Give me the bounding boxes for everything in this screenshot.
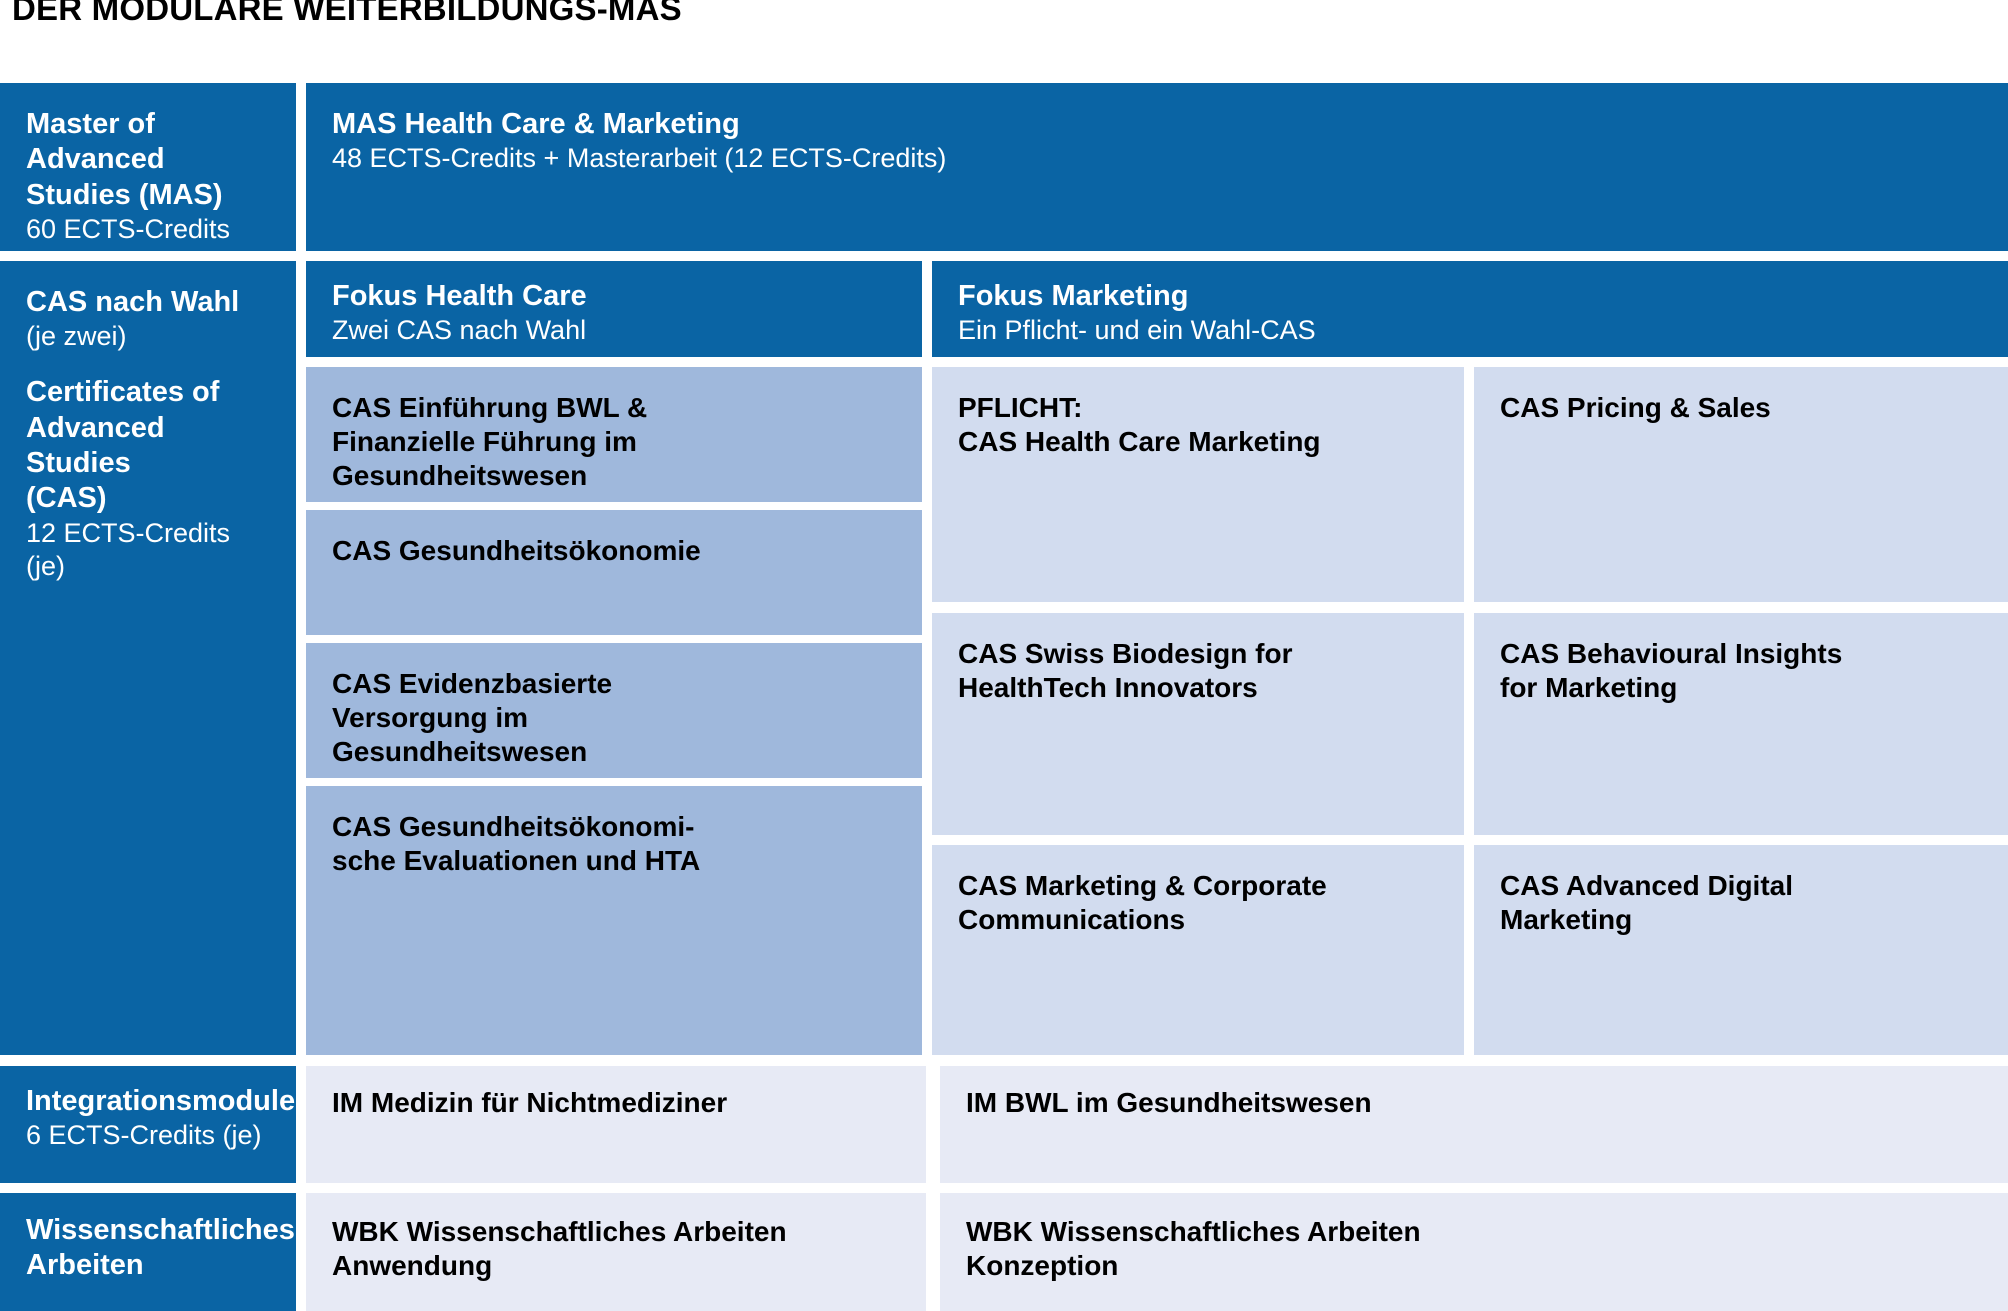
integration-card-1[interactable]: IM Medizin für Nichtmediziner [306, 1066, 926, 1183]
wissenschaft-card-title: WBK Wissenschaftliches Arbeiten Konzepti… [966, 1215, 1982, 1283]
wissenschaft-card-title: WBK Wissenschaftliches Arbeiten Anwendun… [332, 1215, 900, 1283]
integration-card-title: IM Medizin für Nichtmediziner [332, 1086, 900, 1120]
fokus-marketing-subtitle: Ein Pflicht- und ein Wahl-CAS [958, 314, 1982, 347]
cas-card-title: CAS Marketing & Corporate Communications [958, 869, 1438, 937]
cas-card-health-1[interactable]: CAS Einführung BWL & Finanzielle Führung… [306, 367, 922, 502]
cas-card-title: CAS Einführung BWL & Finanzielle Führung… [332, 391, 896, 493]
fokus-health-care-header: Fokus Health Care Zwei CAS nach Wahl [306, 261, 922, 357]
wissenschaft-label-cell: Wissenschaftliches Arbeiten [0, 1193, 296, 1311]
page-title: DER MODULARE WEITERBILDUNGS-MAS [12, 0, 682, 28]
cas-card-marketing-right-3[interactable]: CAS Advanced Digital Marketing [1474, 845, 2008, 1055]
cas-card-marketing-right-1[interactable]: CAS Pricing & Sales [1474, 367, 2008, 602]
cas-card-marketing-left-3[interactable]: CAS Marketing & Corporate Communications [932, 845, 1464, 1055]
wissenschaft-label-title: Wissenschaftliches Arbeiten [26, 1213, 270, 1284]
mas-content-title: MAS Health Care & Marketing [332, 107, 1982, 142]
integration-label-credits: 6 ECTS-Credits (je) [26, 1119, 270, 1152]
cas-card-title: CAS Gesundheitsökonomi- sche Evaluatione… [332, 810, 896, 878]
cas-label-sub2: 12 ECTS-Credits (je) [26, 517, 270, 583]
cas-card-title: CAS Behavioural Insights for Marketing [1500, 637, 1982, 705]
wissenschaft-card-2[interactable]: WBK Wissenschaftliches Arbeiten Konzepti… [940, 1193, 2008, 1311]
integration-card-2[interactable]: IM BWL im Gesundheitswesen [940, 1066, 2008, 1183]
mas-label-title: Master of Advanced Studies (MAS) [26, 107, 270, 213]
cas-label-sub: (je zwei) [26, 320, 270, 353]
cas-card-health-2[interactable]: CAS Gesundheitsökonomie [306, 510, 922, 635]
integration-card-title: IM BWL im Gesundheitswesen [966, 1086, 1982, 1120]
cas-card-title: CAS Swiss Biodesign for HealthTech Innov… [958, 637, 1438, 705]
cas-card-health-4[interactable]: CAS Gesundheitsökonomi- sche Evaluatione… [306, 786, 922, 1055]
integration-label-cell: Integrationsmodule 6 ECTS-Credits (je) [0, 1066, 296, 1183]
cas-card-title: CAS Advanced Digital Marketing [1500, 869, 1982, 937]
cas-card-title: CAS Pricing & Sales [1500, 391, 1982, 425]
cas-label-cell: CAS nach Wahl (je zwei) Certificates of … [0, 261, 296, 1055]
fokus-marketing-title: Fokus Marketing [958, 279, 1982, 314]
cas-card-marketing-left-1[interactable]: PFLICHT: CAS Health Care Marketing [932, 367, 1464, 602]
cas-card-title: CAS Evidenzbasierte Versorgung im Gesund… [332, 667, 896, 769]
cas-label-title: CAS nach Wahl [26, 285, 270, 320]
fokus-health-care-title: Fokus Health Care [332, 279, 896, 314]
fokus-health-care-subtitle: Zwei CAS nach Wahl [332, 314, 896, 347]
wissenschaft-card-1[interactable]: WBK Wissenschaftliches Arbeiten Anwendun… [306, 1193, 926, 1311]
cas-card-title: PFLICHT: CAS Health Care Marketing [958, 391, 1438, 459]
fokus-marketing-header: Fokus Marketing Ein Pflicht- und ein Wah… [932, 261, 2008, 357]
spacer [26, 353, 270, 375]
mas-content-cell: MAS Health Care & Marketing 48 ECTS-Cred… [306, 83, 2008, 251]
cas-card-marketing-right-2[interactable]: CAS Behavioural Insights for Marketing [1474, 613, 2008, 835]
cas-label-title2: Certificates of Advanced Studies (CAS) [26, 375, 270, 517]
cas-card-title: CAS Gesundheitsökonomie [332, 534, 896, 568]
cas-card-marketing-left-2[interactable]: CAS Swiss Biodesign for HealthTech Innov… [932, 613, 1464, 835]
mas-content-credits: 48 ECTS-Credits + Masterarbeit (12 ECTS-… [332, 142, 1982, 175]
diagram-root: DER MODULARE WEITERBILDUNGS-MAS Master o… [0, 0, 2008, 1311]
mas-label-cell: Master of Advanced Studies (MAS) 60 ECTS… [0, 83, 296, 251]
mas-label-credits: 60 ECTS-Credits [26, 213, 270, 246]
integration-label-title: Integrationsmodule [26, 1084, 270, 1119]
cas-card-health-3[interactable]: CAS Evidenzbasierte Versorgung im Gesund… [306, 643, 922, 778]
